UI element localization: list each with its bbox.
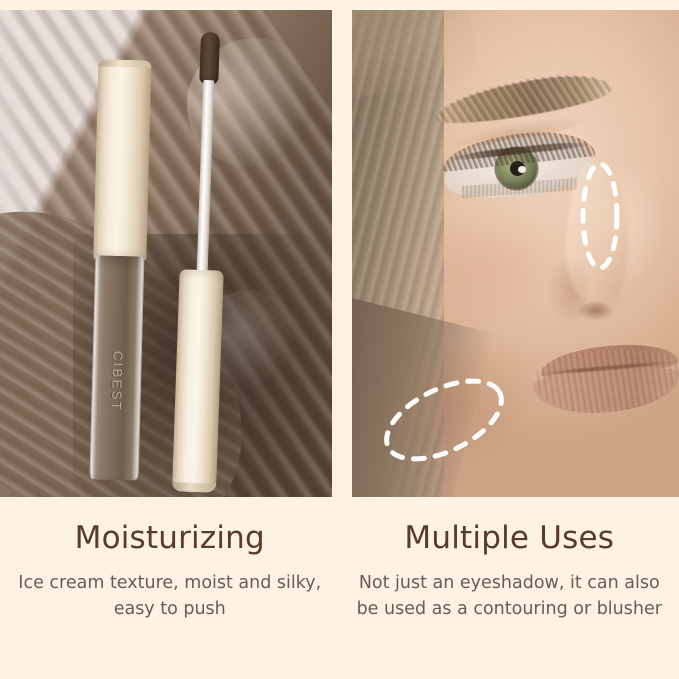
catchlight [518,166,526,173]
tube-brand-label: CIBEST [108,351,125,413]
tube-body: CIBEST [90,255,145,480]
model-face-photo [352,10,679,497]
eye [444,138,594,196]
photo-panels: CIBEST [0,10,679,497]
product-tube-photo: CIBEST [0,10,332,497]
caption-moisturizing: Moisturizing Ice cream texture, moist an… [0,497,340,679]
wand-stem [196,80,214,278]
product-tube: CIBEST [88,59,152,480]
caption-body-moisturizing: Ice cream texture, moist and silky, easy… [10,570,330,623]
wand-cap [172,269,224,492]
caption-multiple-uses: Multiple Uses Not just an eyeshadow, it … [340,497,679,679]
caption-title-multiple-uses: Multiple Uses [350,521,670,555]
panel-multiple-uses-photo [352,10,679,497]
nose-bridge [566,160,628,310]
caption-row: Moisturizing Ice cream texture, moist an… [0,497,679,679]
caption-body-multiple-uses: Not just an eyeshadow, it can also be us… [350,570,670,623]
product-feature-page: CIBEST [0,0,679,679]
tube-cap [93,59,151,260]
cheek-blush [400,208,570,328]
wand-doe-foot-tip [199,32,220,85]
nostril [578,302,612,320]
caption-title-moisturizing: Moisturizing [10,521,330,555]
panel-moisturizing-photo: CIBEST [0,10,332,497]
